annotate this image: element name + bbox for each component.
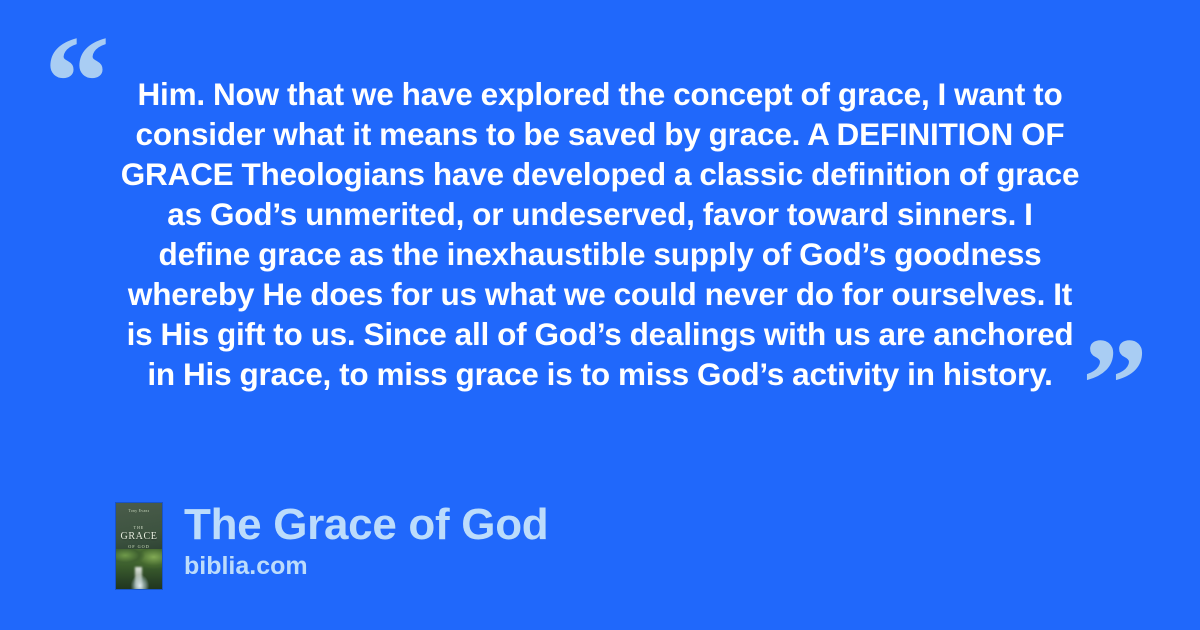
quote-card: “ Him. Now that we have explored the con… bbox=[0, 0, 1200, 630]
book-title: The Grace of God bbox=[184, 500, 548, 550]
source-link[interactable]: biblia.com bbox=[184, 551, 548, 581]
opening-quote-mark-icon: “ bbox=[44, 16, 110, 148]
book-cover-line-title: GRACE bbox=[116, 531, 162, 542]
quote-text: Him. Now that we have explored the conce… bbox=[120, 74, 1080, 394]
book-cover-waterfall-image bbox=[116, 549, 162, 589]
footer-text-group: The Grace of God biblia.com bbox=[184, 503, 548, 581]
attribution-footer: Tony Evans THE GRACE OF GOD The Grace of… bbox=[116, 503, 548, 589]
quote-region: “ Him. Now that we have explored the con… bbox=[0, 0, 1200, 430]
closing-quote-mark-icon: ” bbox=[1082, 318, 1148, 450]
book-cover-thumbnail: Tony Evans THE GRACE OF GOD bbox=[116, 503, 162, 589]
book-cover-author: Tony Evans bbox=[116, 509, 162, 513]
book-cover-line-the: THE bbox=[116, 526, 162, 530]
